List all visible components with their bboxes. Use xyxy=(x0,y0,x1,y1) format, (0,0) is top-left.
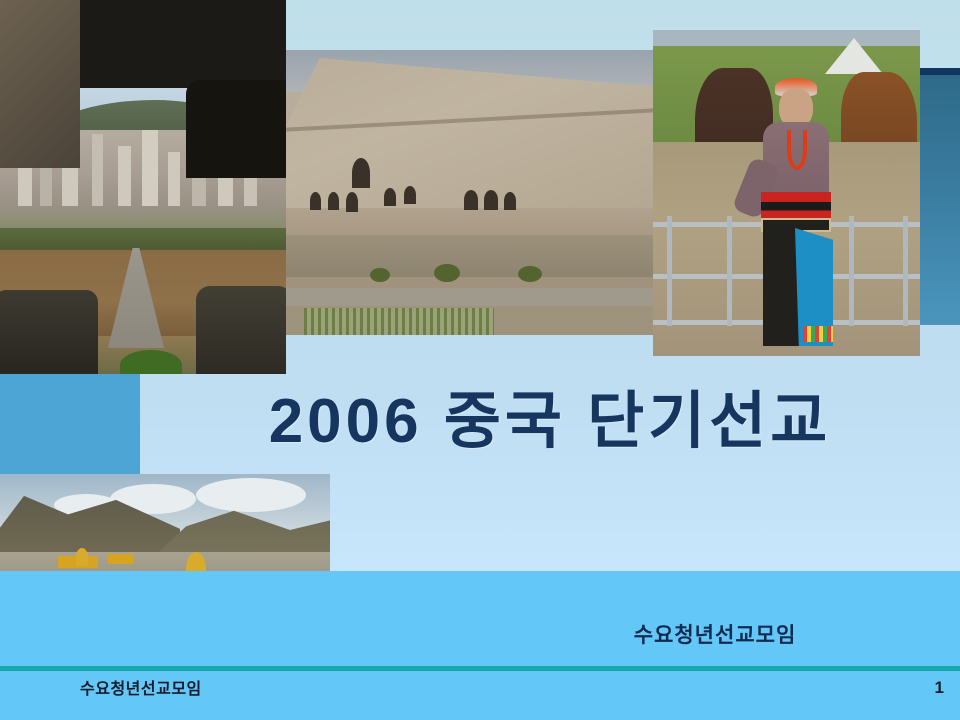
slide-subtitle: 수요청년선교모임 xyxy=(520,620,910,652)
photo-detail-cloud xyxy=(196,478,306,512)
photo-detail-bush xyxy=(518,266,542,282)
photo-detail-stone-frame-bottom-right xyxy=(196,286,286,374)
photo-detail-cave-opening xyxy=(504,192,516,210)
photo-detail-cave-opening xyxy=(384,188,396,206)
photo-detail-cave-opening xyxy=(310,192,321,210)
photo-detail-cave-opening xyxy=(464,190,478,210)
photo-detail-fence-post xyxy=(667,216,672,326)
photo-detail-stone-frame-top-right xyxy=(186,80,286,178)
photo-detail-dirt-road xyxy=(286,288,655,306)
photo-detail-cave-opening xyxy=(346,192,358,212)
photo-detail-fence-post xyxy=(727,216,732,326)
photo-detail-cave-opening xyxy=(404,186,416,204)
photo-tibetan-woman-with-horses xyxy=(653,30,920,356)
photo-detail-stone-frame-bottom-left xyxy=(0,290,98,374)
accent-color-block xyxy=(0,374,140,476)
photo-detail-fence-post xyxy=(849,216,854,326)
photo-detail-bush xyxy=(434,264,460,282)
photo-lanzhou-city-through-stone-window xyxy=(0,0,286,374)
photo-detail-cave-opening xyxy=(484,190,498,210)
photo-detail-riverbank-trees xyxy=(0,228,286,252)
slide-page-number: 1 xyxy=(935,674,944,702)
footer-organization-name: 수요청년선교모임 xyxy=(80,676,202,704)
photo-detail-coral-necklace xyxy=(787,130,807,170)
photo-detail-building xyxy=(118,146,131,206)
slide-title: 2006 중국 단기선교 xyxy=(180,377,920,467)
photo-loess-hillside-cave-dwellings xyxy=(286,50,655,335)
photo-detail-stone-frame-top-left xyxy=(0,0,80,168)
photo-detail-cave-opening xyxy=(328,192,339,210)
photo-detail-cave-opening xyxy=(352,158,370,188)
presentation-slide: 2006 중국 단기선교 수요청년선교모임 수요청년선교모임 1 xyxy=(0,0,960,720)
photo-detail-striped-hem xyxy=(803,326,833,342)
photo-detail-red-black-sash xyxy=(761,192,831,218)
photo-detail-building xyxy=(168,152,180,206)
photo-detail-crop-field xyxy=(304,308,494,335)
photo-detail-fence-post xyxy=(903,216,908,326)
photo-detail-building xyxy=(142,130,158,206)
photo-detail-golden-roof xyxy=(108,554,134,564)
photo-detail-eroded-rock-band xyxy=(286,235,655,277)
photo-detail-woman-figure xyxy=(757,78,835,346)
photo-detail-horizon xyxy=(653,30,920,46)
photo-detail-bush xyxy=(370,268,390,282)
photo-detail-golden-stupa xyxy=(76,548,88,566)
photo-detail-foreground-foliage xyxy=(120,350,182,374)
photo-detail-building xyxy=(92,134,103,206)
